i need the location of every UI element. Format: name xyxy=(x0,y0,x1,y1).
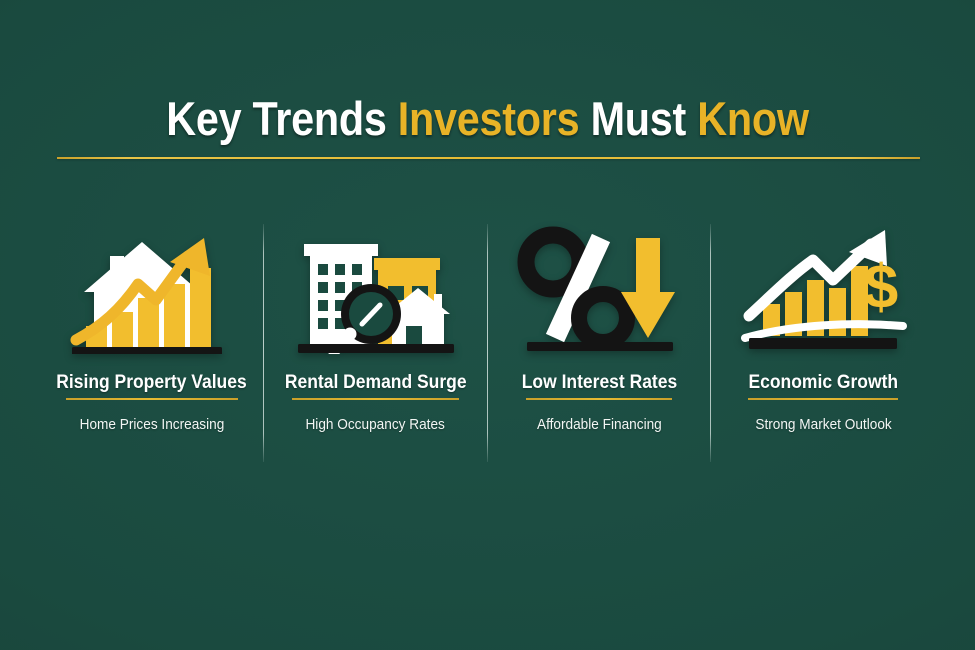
percent-down-arrow-icon xyxy=(504,222,694,354)
title-segment-know: Know xyxy=(697,92,809,145)
trend-heading-underline xyxy=(292,398,459,400)
title-segment-must: Must xyxy=(591,92,686,145)
trend-subtext: Strong Market Outlook xyxy=(755,416,891,434)
trend-heading: Rising Property Values xyxy=(57,372,247,394)
title-underline-rule xyxy=(57,157,920,159)
trend-columns: Rising Property Values Home Prices Incre… xyxy=(40,222,935,462)
trend-heading-underline xyxy=(526,398,672,400)
trend-subtext: Affordable Financing xyxy=(537,416,662,434)
title-block: Key Trends Investors Must Know xyxy=(0,92,975,146)
page-title: Key Trends Investors Must Know xyxy=(59,92,917,146)
svg-text:$: $ xyxy=(864,253,898,322)
trend-subtext: High Occupancy Rates xyxy=(306,416,445,434)
buildings-magnifier-icon xyxy=(281,222,471,354)
trend-heading-underline xyxy=(748,398,898,400)
trend-heading: Rental Demand Surge xyxy=(285,372,467,394)
trend-heading-underline xyxy=(66,398,238,400)
title-segment-investors: Investors xyxy=(398,92,580,145)
trend-column-low-interest-rates[interactable]: Low Interest Rates Affordable Financing xyxy=(488,222,712,462)
title-segment-key-trends: Key Trends xyxy=(166,92,386,145)
infographic-canvas: Key Trends Investors Must Know xyxy=(0,0,975,650)
trend-heading: Economic Growth xyxy=(748,372,898,394)
trend-subtext: Home Prices Increasing xyxy=(80,416,225,434)
trend-heading: Low Interest Rates xyxy=(522,372,677,394)
trend-column-rising-property-values[interactable]: Rising Property Values Home Prices Incre… xyxy=(40,222,264,462)
growth-chart-dollar-icon: $ xyxy=(728,222,918,354)
rising-property-chart-icon xyxy=(57,222,247,354)
trend-column-economic-growth[interactable]: $ Economic Growth Strong Market Outlook xyxy=(711,222,935,462)
trend-column-rental-demand-surge[interactable]: Rental Demand Surge High Occupancy Rates xyxy=(264,222,488,462)
